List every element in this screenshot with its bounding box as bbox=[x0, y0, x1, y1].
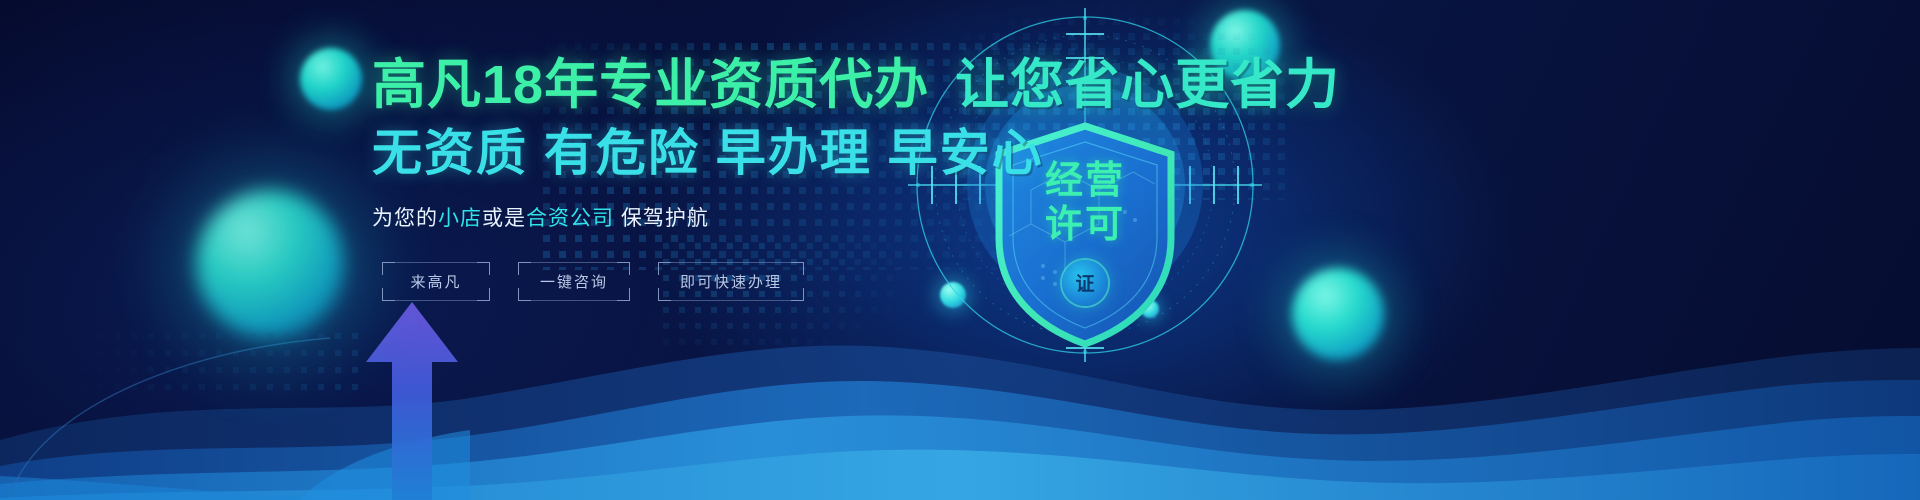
subheadline-prefix: 为您的 bbox=[372, 207, 438, 230]
subheadline-suffix: 保驾护航 bbox=[614, 207, 709, 230]
subheadline-highlight-1: 小店 bbox=[438, 207, 482, 230]
copy-block: 高凡18年专业资质代办让您省心更省力 无资质 有危险 早办理 早安心 为您的小店… bbox=[0, 0, 1920, 500]
headline-line-2: 无资质 有危险 早办理 早安心 bbox=[372, 128, 1044, 178]
headline-line-1: 高凡18年专业资质代办让您省心更省力 bbox=[372, 58, 1340, 112]
corner-br bbox=[617, 288, 630, 301]
corner-br bbox=[477, 288, 490, 301]
tag-label: 来高凡 bbox=[410, 274, 461, 291]
tag-label: 一键咨询 bbox=[540, 274, 608, 291]
edge-top bbox=[670, 262, 792, 263]
edge-bottom bbox=[670, 300, 792, 301]
tag-label: 即可快速办理 bbox=[680, 274, 782, 291]
corner-tr bbox=[477, 262, 490, 275]
corner-tl bbox=[658, 262, 671, 275]
edge-bottom bbox=[394, 300, 478, 301]
corner-tr bbox=[791, 262, 804, 275]
tag-item-2[interactable]: 一键咨询 bbox=[518, 262, 630, 301]
subheadline: 为您的小店或是合资公司 保驾护航 bbox=[372, 202, 709, 232]
tag-item-1[interactable]: 来高凡 bbox=[382, 262, 490, 301]
corner-tl bbox=[518, 262, 531, 275]
edge-top bbox=[530, 262, 618, 263]
tag-item-3[interactable]: 即可快速办理 bbox=[658, 262, 804, 301]
corner-br bbox=[791, 288, 804, 301]
headline-part-1: 高凡18年专业资质代办 bbox=[372, 55, 929, 115]
corner-tl bbox=[382, 262, 395, 275]
subheadline-highlight-2: 合资公司 bbox=[526, 207, 614, 230]
corner-tr bbox=[617, 262, 630, 275]
subheadline-middle: 或是 bbox=[482, 207, 526, 230]
edge-bottom bbox=[530, 300, 618, 301]
edge-top bbox=[394, 262, 478, 263]
headline-part-2: 让您省心更省力 bbox=[955, 55, 1340, 115]
tag-list: 来高凡 一键咨询 即可快速办理 bbox=[382, 262, 804, 301]
promo-banner: 经营 许可 证 高凡18年专业资质代办让您省心更省力 无资质 有危险 早办理 早… bbox=[0, 0, 1920, 500]
